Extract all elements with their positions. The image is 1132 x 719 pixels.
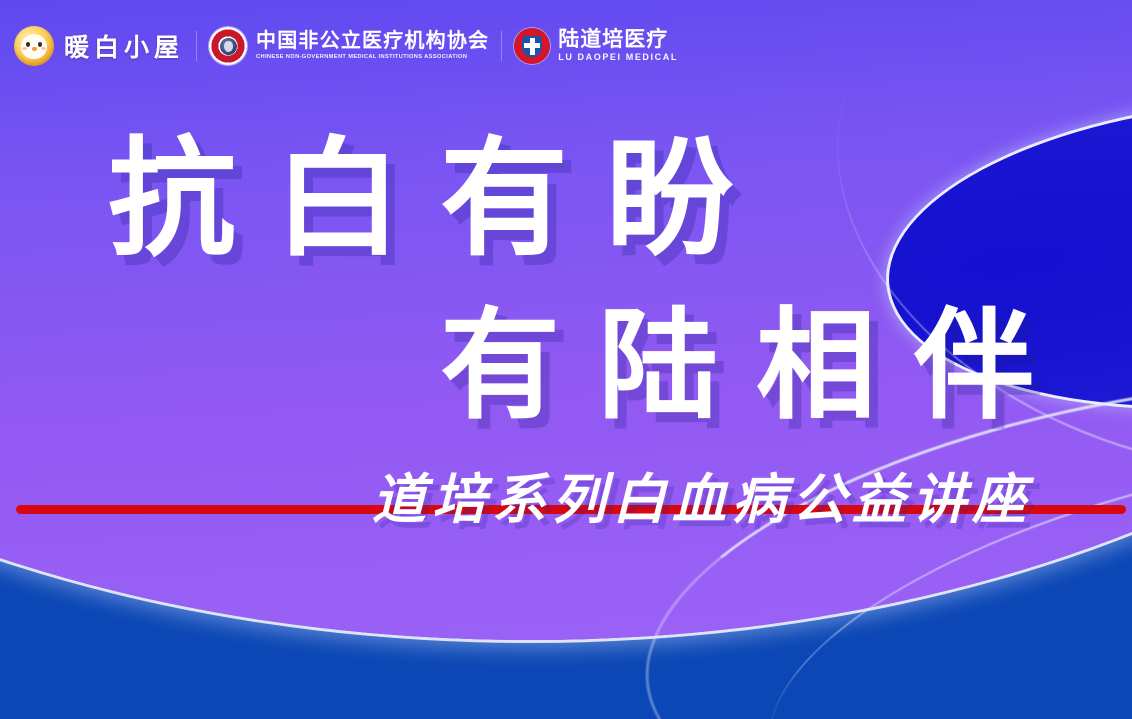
mascot-chick-icon [14,26,54,66]
logo-bar: 暖白小屋 中国非公立医疗机构协会 CHINESE NON-GOVERNMENT … [14,22,678,70]
cnmia-emblem-inner [220,38,237,55]
subtitle-text: 道培系列白血病公益讲座 [372,455,1032,534]
logo-divider-1 [196,31,197,61]
logo-nuanbai-xiaowu: 暖白小屋 [14,22,184,70]
poster-canvas: 暖白小屋 中国非公立医疗机构协会 CHINESE NON-GOVERNMENT … [0,0,1132,719]
logo-label-nuanbai-xiaowu: 暖白小屋 [64,28,184,64]
lu-daopei-shield-shape [522,36,542,57]
headline-line-1: 抗白有盼 [108,136,772,264]
mascot-eye-left [26,42,30,47]
mascot-beak [32,47,37,51]
logo-text-lu-daopei: 陆道培医疗 LU DAOPEI MEDICAL [558,29,678,62]
mascot-cheek-left [22,47,27,50]
logo-label-lu-daopei-en: LU DAOPEI MEDICAL [558,53,678,62]
lu-daopei-cross-horizontal [524,43,540,48]
logo-cnmia: 中国非公立医疗机构协会 CHINESE NON-GOVERNMENT MEDIC… [209,22,489,70]
logo-lu-daopei: 陆道培医疗 LU DAOPEI MEDICAL [514,22,678,70]
mascot-face-shape [21,34,47,59]
headline-line-2: 有陆相伴 [440,306,1072,426]
logo-label-cnmia-en: CHINESE NON-GOVERNMENT MEDICAL INSTITUTI… [256,55,494,61]
logo-text-cnmia: 中国非公立医疗机构协会 CHINESE NON-GOVERNMENT MEDIC… [256,31,489,61]
logo-label-cnmia-cn: 中国非公立医疗机构协会 [256,31,489,52]
cnmia-emblem-icon [209,27,247,65]
logo-label-lu-daopei-cn: 陆道培医疗 [558,29,678,51]
lu-daopei-cross-emblem-icon [514,28,550,64]
logo-divider-2 [501,31,502,61]
mascot-cheek-right [41,47,46,50]
